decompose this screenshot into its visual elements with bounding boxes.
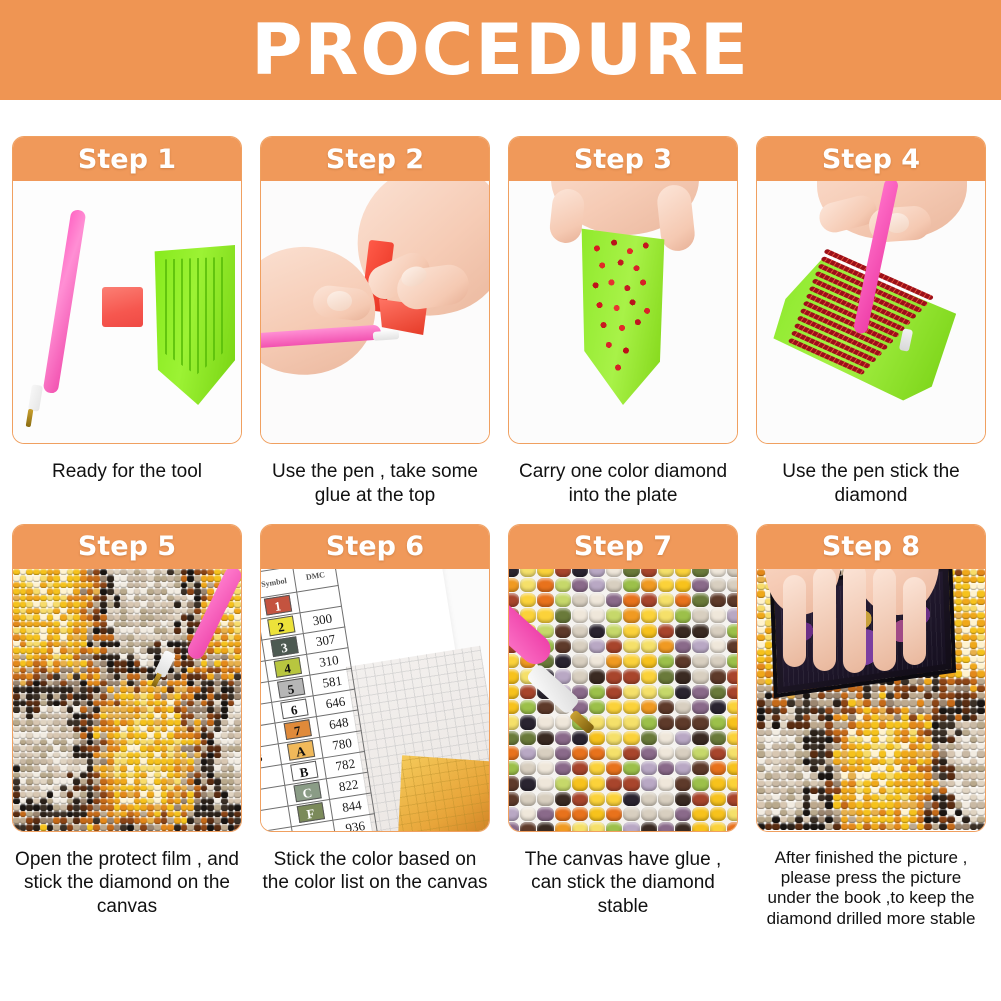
steps-row-2: Step 5 Open the protect film , and stick… — [12, 524, 989, 930]
step-header-label-4: Step 4 — [822, 146, 920, 173]
step-image-1 — [13, 181, 241, 443]
step-cell-4: Step 4 Use the pen stick the diamond — [756, 136, 986, 508]
step-card-3[interactable]: Step 3 — [508, 136, 738, 444]
fingernail-icon — [327, 291, 352, 311]
step-cell-8: Step 8 After finished the picture , plea… — [756, 524, 986, 930]
glue-square-icon — [102, 287, 143, 327]
step-header-label-6: Step 6 — [326, 533, 424, 560]
tray-grooves-icon — [165, 257, 225, 375]
page-banner: PROCEDURE — [0, 0, 1001, 100]
red-diamonds-icon — [589, 237, 655, 379]
step-header-label-5: Step 5 — [78, 533, 176, 560]
step-header-label-3: Step 3 — [574, 146, 672, 173]
finger-icon — [548, 187, 585, 244]
step-image-8 — [757, 569, 985, 831]
step-header-label-2: Step 2 — [326, 146, 424, 173]
step-cell-3: Step 3 Carry one color diamond into the … — [508, 136, 738, 508]
step-caption-7: The canvas have glue , can stick the dia… — [508, 848, 738, 919]
step-header-label-1: Step 1 — [78, 146, 176, 173]
step-image-4 — [757, 181, 985, 443]
step-card-2[interactable]: Step 2 — [260, 136, 490, 444]
page-title: PROCEDURE — [251, 15, 750, 85]
step-header-8: Step 8 — [757, 525, 985, 569]
step-header-1: Step 1 — [13, 137, 241, 181]
finger-icon — [843, 569, 866, 673]
step-card-5[interactable]: Step 5 — [12, 524, 242, 832]
step-caption-2: Use the pen , take some glue at the top — [260, 460, 490, 508]
step-cell-5: Step 5 Open the protect film , and stick… — [12, 524, 242, 930]
step-caption-5: Open the protect film , and stick the di… — [12, 848, 242, 919]
diamond-pen-icon — [43, 209, 87, 394]
pen-needle-icon — [26, 409, 34, 428]
step-card-6[interactable]: Step 6 No. Symbol DMC — [260, 524, 490, 832]
step-header-4: Step 4 — [757, 137, 985, 181]
step-caption-1: Ready for the tool — [12, 460, 242, 484]
step-caption-3: Carry one color diamond into the plate — [508, 460, 738, 508]
diamond-beads-macro — [509, 569, 737, 831]
step-image-6: No. Symbol DMC 1122300333074431055581666… — [261, 569, 489, 831]
step-image-7 — [509, 569, 737, 831]
finger-icon — [813, 569, 836, 671]
step-image-5 — [13, 569, 241, 831]
step-cell-6: Step 6 No. Symbol DMC — [260, 524, 490, 930]
step-header-3: Step 3 — [509, 137, 737, 181]
step-header-7: Step 7 — [509, 525, 737, 569]
step-image-2 — [261, 181, 489, 443]
step-caption-6: Stick the color based on the color list … — [260, 848, 490, 896]
step-header-label-7: Step 7 — [574, 533, 672, 560]
step-caption-8: After finished the picture , please pres… — [756, 848, 986, 930]
step-cell-2: Step 2 Use the pen , take some glue at — [260, 136, 490, 508]
step-cell-1: Step 1 Ready for the tool — [12, 136, 242, 508]
pen-tip-icon — [28, 384, 43, 411]
step-image-3 — [509, 181, 737, 443]
finger-icon — [873, 569, 896, 671]
steps-grid: Step 1 Ready for the tool Step 2 — [0, 100, 1001, 929]
step-card-4[interactable]: Step 4 — [756, 136, 986, 444]
step-header-5: Step 5 — [13, 525, 241, 569]
step-header-label-8: Step 8 — [822, 533, 920, 560]
step-header-6: Step 6 — [261, 525, 489, 569]
step-caption-4: Use the pen stick the diamond — [756, 460, 986, 508]
step-cell-7: Step 7 The canvas have glue , can stick … — [508, 524, 738, 930]
pen-tip-icon — [373, 330, 400, 341]
step-card-1[interactable]: Step 1 — [12, 136, 242, 444]
finger-icon — [783, 575, 806, 667]
step-header-2: Step 2 — [261, 137, 489, 181]
steps-row-1: Step 1 Ready for the tool Step 2 — [12, 136, 989, 508]
finger-icon — [903, 577, 926, 665]
step-card-7[interactable]: Step 7 — [508, 524, 738, 832]
step-card-8[interactable]: Step 8 — [756, 524, 986, 832]
